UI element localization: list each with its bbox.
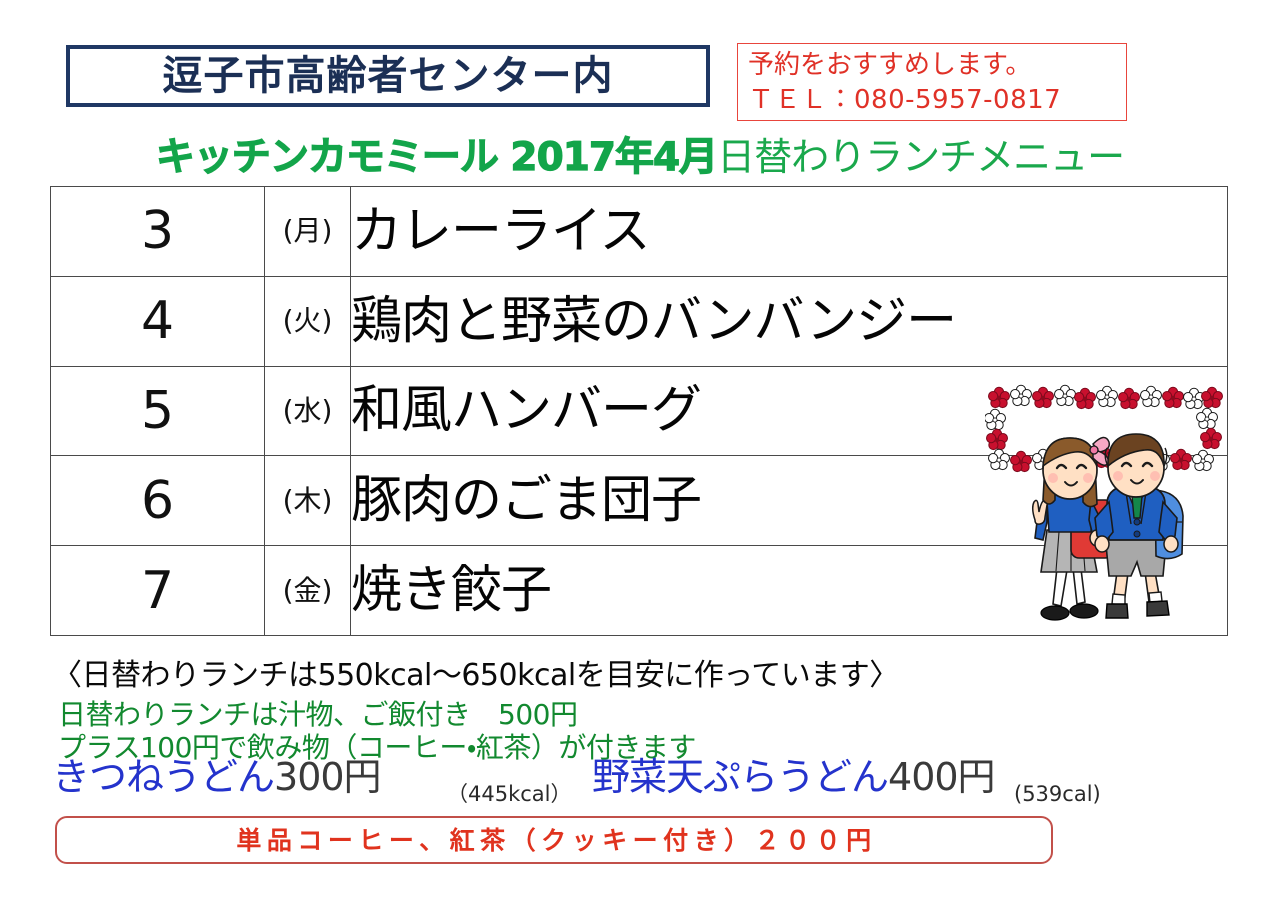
table-row: 7 (金) 焼き餃子 (51, 546, 1228, 636)
telephone-number[interactable]: ＴＥＬ：080-5957-0817 (748, 83, 1118, 118)
table-row: 3 (月) カレーライス (51, 187, 1228, 277)
table-row: 4 (火) 鶏肉と野菜のバンバンジー (51, 276, 1228, 366)
menu-dish: 焼き餃子 (351, 546, 1228, 636)
table-row: 6 (木) 豚肉のごま団子 (51, 456, 1228, 546)
udon-item-kitsune: きつねうどん300円 (52, 758, 381, 796)
venue-title: 逗子市高齢者センター内 (163, 56, 614, 96)
udon-calories: （445kcal） (447, 782, 572, 806)
udon-item-yasai-tempura: 野菜天ぷらうどん400円 (592, 758, 995, 796)
udon-calories: (539cal) (1014, 782, 1101, 806)
udon-calories-kitsune: （445kcal） (447, 784, 572, 806)
shop-name-and-month: キッチンカモミール 2017年4月 (156, 138, 717, 177)
coffee-offer-banner: 単品コーヒー、紅茶（クッキー付き）２００円 (55, 816, 1053, 864)
menu-dish: カレーライス (351, 187, 1228, 277)
menu-date: 6 (51, 456, 265, 546)
udon-name: きつねうどん (52, 755, 274, 799)
udon-price: 400円 (888, 755, 995, 799)
menu-table-container: 3 (月) カレーライス 4 (火) 鶏肉と野菜のバンバンジー 5 (水) 和風… (50, 186, 1228, 636)
reservation-contact-box: 予約をおすすめします。 ＴＥＬ：080-5957-0817 (737, 43, 1127, 121)
menu-weekday: (木) (265, 456, 351, 546)
menu-weekday: (水) (265, 366, 351, 456)
menu-dish: 鶏肉と野菜のバンバンジー (351, 276, 1228, 366)
header: 逗子市高齢者センター内 予約をおすすめします。 ＴＥＬ：080-5957-081… (0, 0, 1280, 130)
calorie-range-note: 〈日替わりランチは550kcal〜650kcalを目安に作っています〉 (52, 650, 899, 694)
daily-menu-table: 3 (月) カレーライス 4 (火) 鶏肉と野菜のバンバンジー 5 (水) 和風… (50, 186, 1228, 636)
coffee-offer-text: 単品コーヒー、紅茶（クッキー付き）２００円 (231, 828, 876, 853)
menu-dish: 豚肉のごま団子 (351, 456, 1228, 546)
menu-dish: 和風ハンバーグ (351, 366, 1228, 456)
menu-date: 4 (51, 276, 265, 366)
udon-calories-yasai-tempura: (539cal) (1014, 784, 1101, 806)
menu-date: 7 (51, 546, 265, 636)
venue-title-box: 逗子市高齢者センター内 (66, 45, 710, 107)
menu-date: 3 (51, 187, 265, 277)
udon-name: 野菜天ぷらうどん (592, 755, 888, 799)
menu-headline: キッチンカモミール 2017年4月 日替わりランチメニュー (0, 132, 1280, 182)
reservation-note: 予約をおすすめします。 (748, 48, 1118, 83)
udon-price: 300円 (274, 755, 381, 799)
daily-lunch-menu-label: 日替わりランチメニュー (717, 138, 1124, 176)
menu-date: 5 (51, 366, 265, 456)
udon-price-row: きつねうどん300円 （445kcal） 野菜天ぷらうどん400円 (539ca… (52, 758, 1212, 808)
menu-weekday: (金) (265, 546, 351, 636)
menu-weekday: (月) (265, 187, 351, 277)
menu-weekday: (火) (265, 276, 351, 366)
table-row: 5 (水) 和風ハンバーグ (51, 366, 1228, 456)
